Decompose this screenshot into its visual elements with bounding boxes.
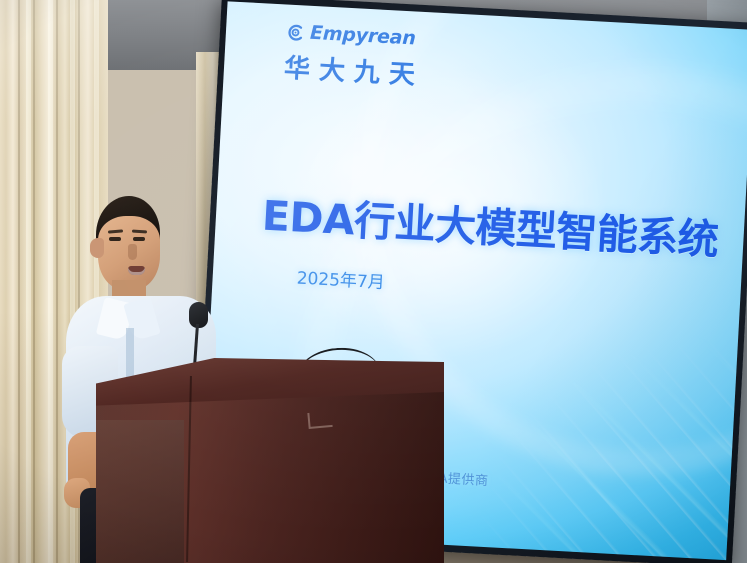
- empyrean-chinese-name: 华大九天: [283, 47, 425, 92]
- presenter-eye-right: [133, 237, 145, 241]
- presenter-nose: [128, 244, 137, 260]
- podium-emblem: [307, 411, 332, 429]
- slide-date: 2025年7月: [296, 263, 385, 293]
- presenter-ear: [90, 238, 104, 258]
- podium-sheen: [96, 392, 444, 563]
- empyrean-wordmark: Empyrean: [309, 22, 416, 50]
- empyrean-logo: Empyrean 华大九天: [283, 21, 426, 92]
- presenter-mouth: [128, 266, 145, 275]
- presenter-eye-left: [109, 237, 121, 241]
- presentation-photo: Empyrean 华大九天 EDA行业大模型智能系统 2025年7月 全领域、全…: [0, 0, 747, 563]
- empyrean-swirl-mark: [286, 22, 306, 42]
- wooden-podium: [96, 358, 444, 563]
